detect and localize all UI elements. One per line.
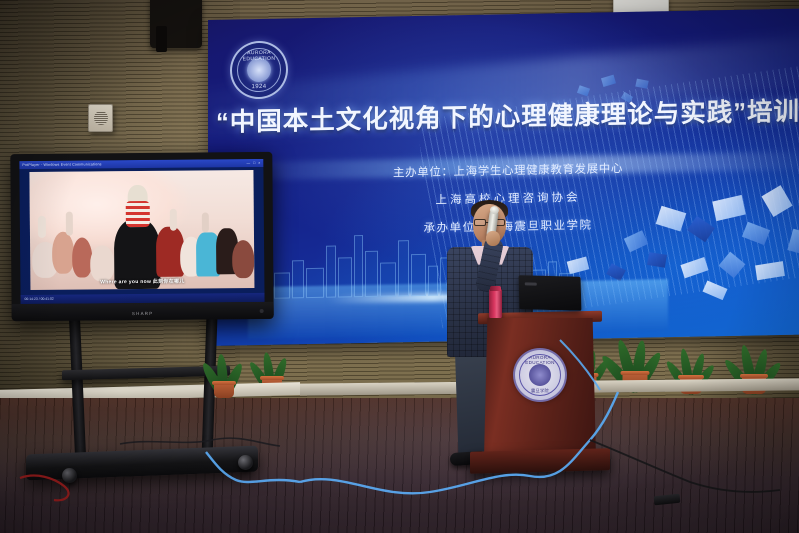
podium-seal-top-text: AURORA EDUCATION: [515, 355, 565, 365]
potted-plant: [196, 342, 252, 398]
pink-thermos: [489, 289, 502, 319]
tv-ir-sensor: [260, 309, 264, 313]
video-frame: Where are you now 此刻你在哪儿: [29, 170, 254, 290]
conference-hall-photo: AURORA EDUCATION 1924 “中国本土文化视角下的心理健康理论与…: [0, 0, 799, 533]
tv-monitor[interactable]: PotPlayer - Windows Event Communications…: [10, 152, 273, 321]
video-player-title: PotPlayer - Windows Event Communications: [19, 162, 101, 167]
tv-brand-label: SHARP: [132, 311, 154, 316]
floor-cables: [0, 400, 799, 533]
wall-speaker-icon: [88, 104, 113, 132]
presenter-hand: [486, 231, 500, 246]
video-subtitle: Where are you now 此刻你在哪儿: [30, 277, 254, 286]
seal-bottom-text: 1924: [232, 84, 286, 91]
glasses-lens-left: [474, 219, 486, 226]
window-controls[interactable]: — □ ×: [246, 161, 261, 165]
video-player-titlebar[interactable]: PotPlayer - Windows Event Communications…: [19, 159, 263, 169]
seal-top-text: AURORA EDUCATION: [232, 50, 286, 63]
podium-seal-bottom-text: 震旦学院: [515, 388, 565, 394]
video-timecode: 00:14:23 / 00:41:02: [21, 293, 265, 301]
laptop[interactable]: [519, 275, 582, 311]
podium-seal-logo: AURORA EDUCATION 震旦学院: [513, 348, 567, 402]
ceiling-mount-bracket: [150, 0, 202, 48]
tv-bezel: SHARP: [12, 302, 274, 321]
tv-screen[interactable]: PotPlayer - Windows Event Communications…: [19, 159, 264, 304]
